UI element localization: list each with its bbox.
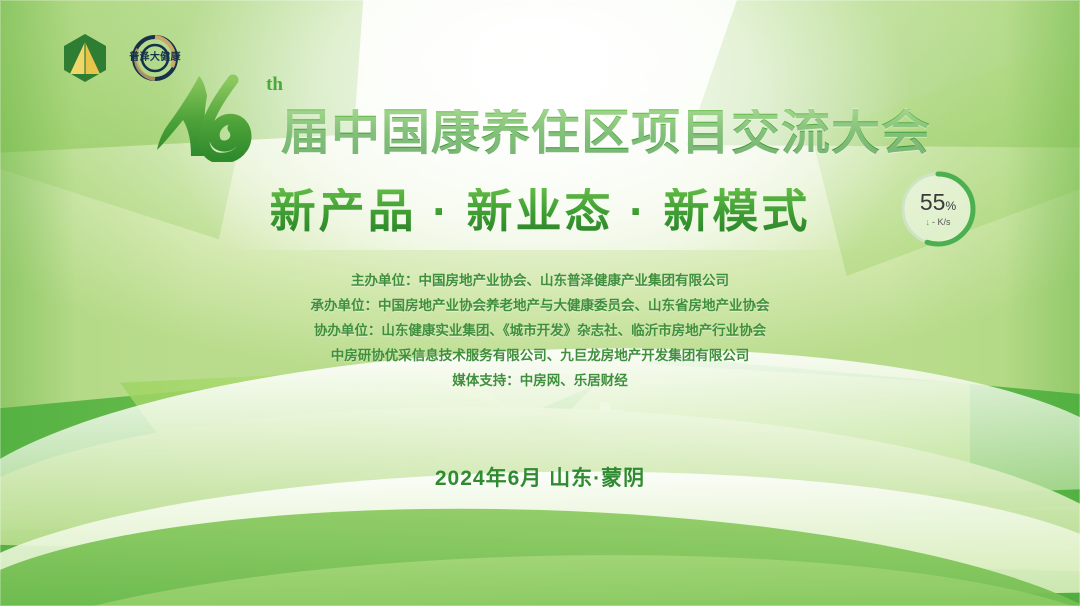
conference-poster: 普泽大健康 th 届中国康养住区项目交流大会 新产品 (0, 0, 1080, 606)
download-speed-value: - K/s (932, 218, 951, 227)
download-progress-ring[interactable]: 55% ↓ - K/s (897, 168, 979, 250)
download-percent-value: 55 (920, 189, 946, 215)
download-percent-unit: % (945, 199, 956, 213)
edition-number-brush: th (149, 70, 279, 162)
credit-line: 协办单位：山东健康实业集团、《城市开发》杂志社、临沂市房地产行业协会 (0, 318, 1080, 343)
download-percent: 55% (920, 191, 956, 214)
date-location-text: 2024年6月 山东·蒙阴 (0, 462, 1080, 492)
credit-line: 承办单位：中国房地产业协会养老地产与大健康委员会、山东省房地产业协会 (0, 293, 1080, 318)
download-speed-row: ↓ - K/s (925, 218, 950, 227)
credit-line: 媒体支持：中房网、乐居财经 (0, 368, 1080, 393)
main-title-row: th 届中国康养住区项目交流大会 (0, 70, 1080, 162)
edition-suffix: th (266, 74, 283, 96)
credit-line: 主办单位：中国房地产业协会、山东普泽健康产业集团有限公司 (0, 268, 1080, 293)
download-arrow-icon: ↓ (925, 218, 930, 227)
credits-block: 主办单位：中国房地产业协会、山东普泽健康产业集团有限公司 承办单位：中国房地产业… (0, 268, 1080, 393)
puze-health-logo-label: 普泽大健康 (122, 53, 188, 63)
download-progress-content: 55% ↓ - K/s (897, 168, 979, 250)
credit-line: 中房研协优采信息技术服务有限公司、九巨龙房地产开发集团有限公司 (0, 343, 1080, 368)
page-title: 届中国康养住区项目交流大会 (281, 109, 931, 162)
